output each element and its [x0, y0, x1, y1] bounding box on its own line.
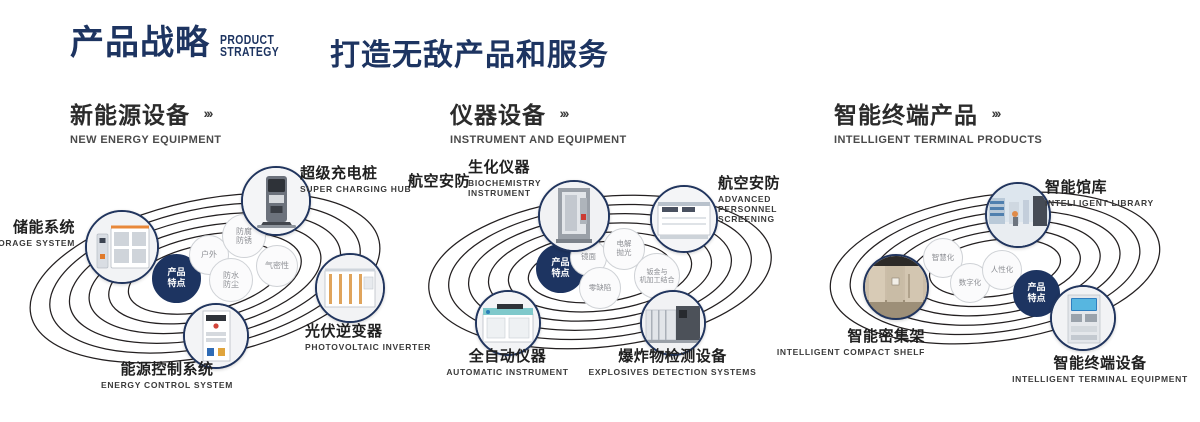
node-label-en: BIOCHEMISTRY INSTRUMENT [468, 178, 558, 198]
label-energy-storage-system: 储能系统 ENERGY STORAGE SYSTEM [0, 216, 75, 248]
product-strategy-infographic: 产品战略 PRODUCT STRATEGY 打造无敌产品和服务 新能源设备 ››… [0, 0, 1200, 422]
diagram-instrument: 产品 特点 镜面 电解 抛光 零缺陷 钣金与 机加工结合 航空安防 [400, 150, 820, 400]
node-label-en: AUTOMATIC INSTRUMENT [425, 367, 590, 377]
label-aviation-security-left: 航空安防 [408, 170, 470, 191]
masthead-slogan: 打造无敌产品和服务 [330, 30, 609, 74]
node-label-en: INTELLIGENT LIBRARY [1045, 198, 1154, 208]
feature-bubble-label: 零缺陷 [589, 284, 612, 293]
feature-bubble-label: 户外 [201, 250, 217, 259]
section-title-cn: 仪器设备 [450, 96, 546, 130]
feature-bubble-label: 气密性 [265, 261, 289, 270]
feature-bubble-label-line1: 防水 [223, 271, 239, 280]
section-title-en: INTELLIGENT TERMINAL PRODUCTS [834, 134, 1042, 146]
label-explosives-detection-systems: 爆炸物检测设备 EXPLOSIVES DETECTION SYSTEMS [585, 345, 760, 377]
core-bubble-line1: 产品 [551, 258, 569, 268]
section-title-cn: 智能终端产品 [834, 96, 978, 130]
node-label-en: SUPER CHARGING HUB [300, 184, 411, 194]
node-energy-storage-system[interactable] [85, 210, 159, 284]
feature-bubble-zero-defect: 零缺陷 [579, 267, 621, 309]
feature-bubble-airtight: 气密性 [256, 245, 298, 287]
node-label-cn: 储能系统 [0, 216, 75, 237]
chevrons-right-icon: ››› [559, 105, 567, 121]
node-label-en: ENERGY CONTROL SYSTEM [82, 380, 252, 390]
feature-bubble-label-line1: 钣金与 [640, 268, 675, 276]
node-label-cn: 航空安防 [718, 172, 810, 193]
diagram-new-energy: 产品 特点 户外 防腐 防锈 防水 防尘 气密性 [0, 150, 420, 400]
section-header-new-energy: 新能源设备 ››› NEW ENERGY EQUIPMENT [70, 96, 221, 146]
label-intelligent-compact-shelf: 智能密集架 INTELLIGENT COMPACT SHELF [775, 325, 925, 357]
label-energy-control-system: 能源控制系统 ENERGY CONTROL SYSTEM [82, 358, 252, 390]
feature-bubble-label: 镜面 [581, 253, 596, 262]
node-intelligent-terminal-equipment[interactable] [1050, 285, 1116, 351]
section-title-en: INSTRUMENT AND EQUIPMENT [450, 134, 627, 146]
intelligent-terminal-equipment-image [1052, 287, 1114, 349]
masthead-title-en-line2: STRATEGY [220, 46, 279, 58]
photovoltaic-inverter-image [317, 255, 383, 321]
node-advanced-personnel-screening[interactable] [650, 185, 718, 253]
section-header-intelligent-terminal: 智能终端产品 ››› INTELLIGENT TERMINAL PRODUCTS [834, 96, 1042, 146]
diagram-intelligent-terminal: 智慧化 数字化 人性化 产品 特点 [805, 150, 1200, 400]
section-title-cn: 新能源设备 [70, 96, 190, 130]
feature-bubble-label: 智慧化 [932, 254, 955, 263]
masthead-title-cn: 产品战略 [70, 26, 210, 60]
node-photovoltaic-inverter[interactable] [315, 253, 385, 323]
label-biochemistry-instrument: 生化仪器 BIOCHEMISTRY INSTRUMENT [468, 156, 558, 198]
core-bubble-line2: 特点 [1027, 294, 1045, 304]
node-label-cn: 能源控制系统 [82, 358, 252, 379]
advanced-personnel-screening-image [652, 187, 716, 251]
node-label-cn: 超级充电桩 [300, 162, 411, 183]
label-advanced-personnel-screening: 航空安防 ADVANCED PERSONNEL SCREENING [718, 172, 810, 224]
label-intelligent-terminal-equipment: 智能终端设备 INTELLIGENT TERMINAL EQUIPMENT [1005, 352, 1195, 384]
core-bubble-line2: 特点 [551, 269, 569, 279]
node-label-cn: 航空安防 [408, 170, 470, 191]
node-label-cn: 生化仪器 [468, 156, 558, 177]
node-label-cn: 全自动仪器 [425, 345, 590, 366]
section-title-en: NEW ENERGY EQUIPMENT [70, 134, 221, 146]
section-header-instrument: 仪器设备 ››› INSTRUMENT AND EQUIPMENT [450, 96, 627, 146]
feature-bubble-label: 人性化 [991, 266, 1014, 275]
node-label-en: ENERGY STORAGE SYSTEM [0, 238, 75, 248]
core-bubble-line1: 产品 [167, 268, 185, 278]
intelligent-compact-shelf-image [865, 256, 927, 318]
energy-storage-system-image [87, 212, 157, 282]
core-bubble-line1: 产品 [1027, 283, 1045, 293]
feature-bubble-label-line2: 防尘 [223, 280, 239, 289]
label-super-charging-hub: 超级充电桩 SUPER CHARGING HUB [300, 162, 411, 194]
node-label-en: INTELLIGENT TERMINAL EQUIPMENT [1005, 374, 1195, 384]
chevrons-right-icon: ››› [991, 105, 999, 121]
feature-bubble-label: 数字化 [959, 279, 982, 288]
feature-bubble-label-line1: 防腐 [236, 227, 252, 236]
feature-bubble-label-line2: 防锈 [236, 236, 252, 245]
node-intelligent-compact-shelf[interactable] [863, 254, 929, 320]
node-label-en: INTELLIGENT COMPACT SHELF [775, 347, 925, 357]
masthead: 产品战略 PRODUCT STRATEGY [70, 26, 294, 60]
node-label-en: ADVANCED PERSONNEL SCREENING [718, 194, 810, 224]
label-automatic-instrument: 全自动仪器 AUTOMATIC INSTRUMENT [425, 345, 590, 377]
intelligent-library-image [987, 184, 1049, 246]
core-bubble-line2: 特点 [167, 279, 185, 289]
node-intelligent-library[interactable] [985, 182, 1051, 248]
node-label-cn: 爆炸物检测设备 [585, 345, 760, 366]
masthead-title-en: PRODUCT STRATEGY [220, 34, 279, 58]
feature-bubble-label-line2: 机加工结合 [640, 276, 675, 284]
feature-bubble-waterproof: 防水 防尘 [209, 258, 253, 302]
node-label-en: EXPLOSIVES DETECTION SYSTEMS [585, 367, 760, 377]
node-label-cn: 智能终端设备 [1005, 352, 1195, 373]
label-intelligent-library: 智能馆库 INTELLIGENT LIBRARY [1045, 176, 1154, 208]
chevrons-right-icon: ››› [203, 105, 211, 121]
feature-bubble-label-line2: 抛光 [617, 249, 632, 258]
node-label-cn: 智能密集架 [775, 325, 925, 346]
node-label-cn: 智能馆库 [1045, 176, 1154, 197]
